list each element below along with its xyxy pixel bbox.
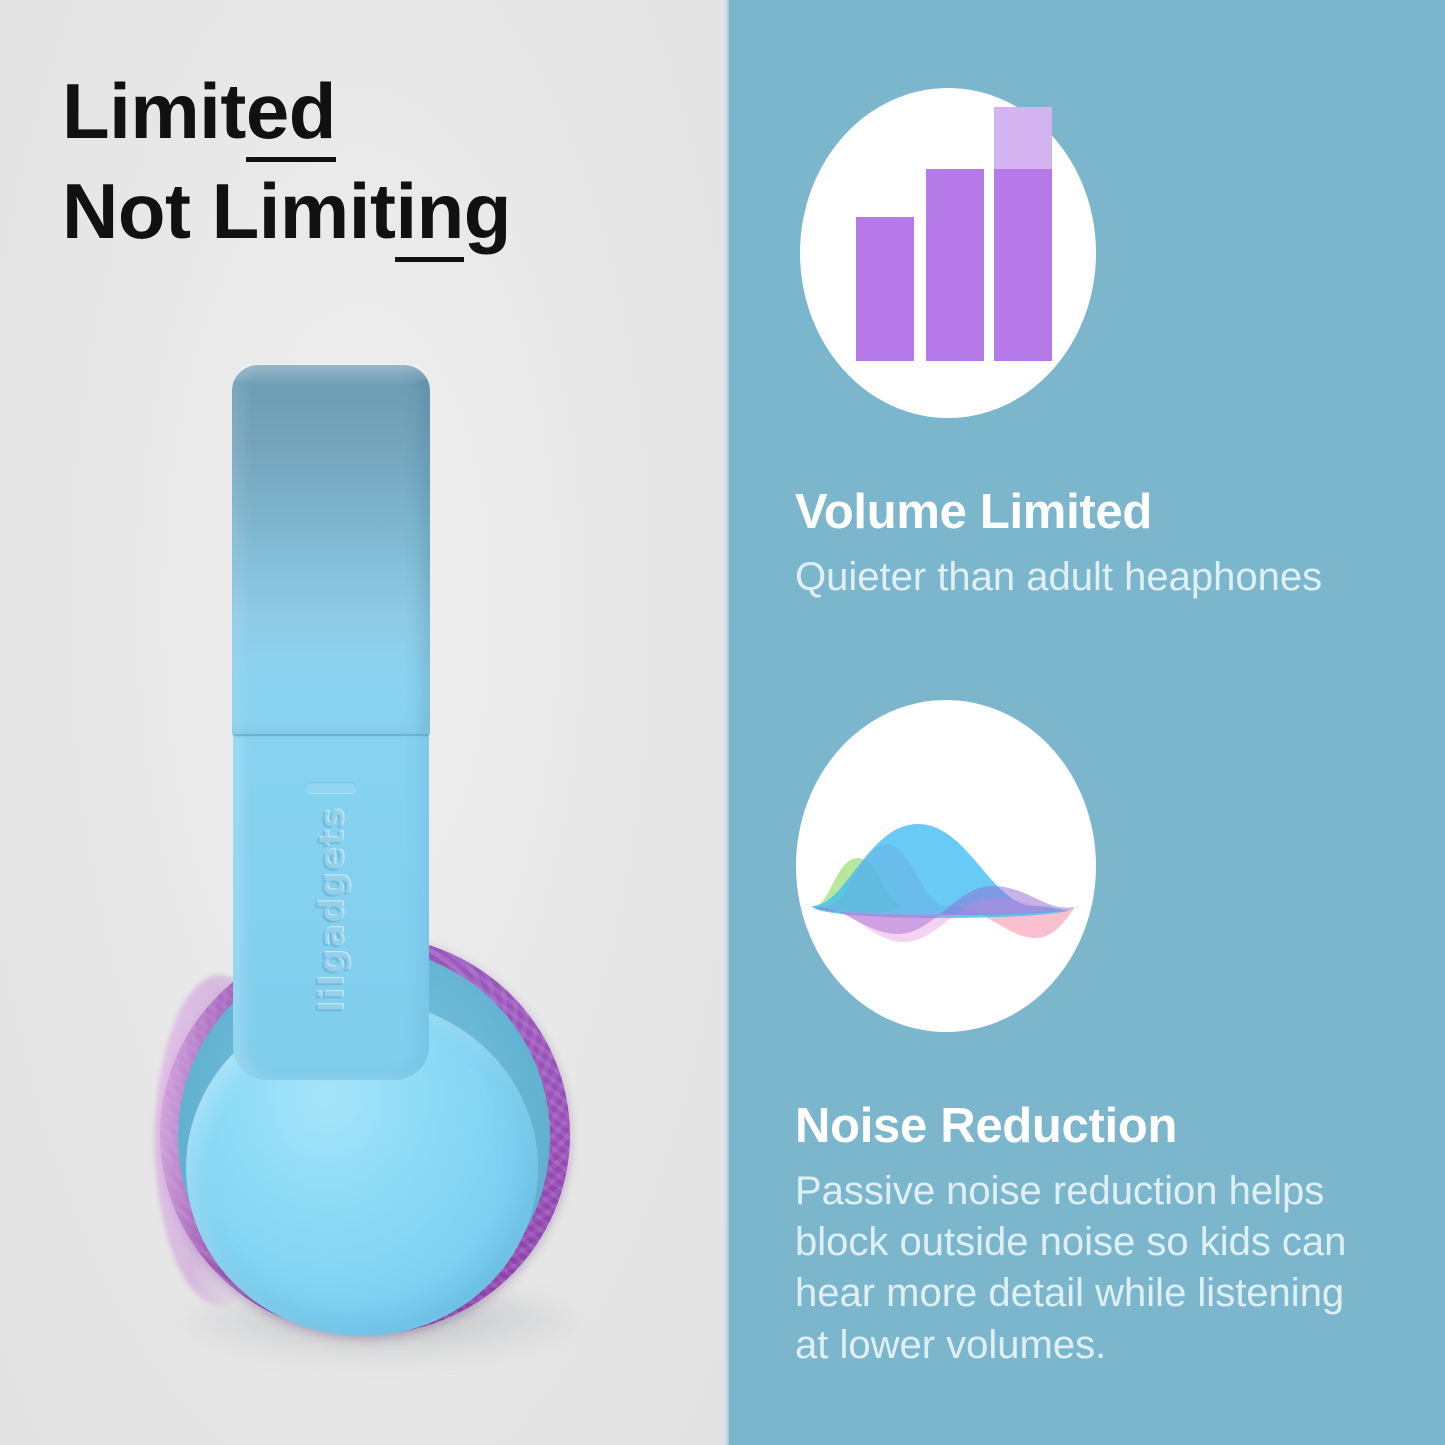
panel-divider	[722, 0, 729, 1445]
ear-pad-texture	[160, 935, 570, 1335]
sound-wave-icon	[806, 766, 1086, 966]
sound-wave-icon-circle	[796, 700, 1096, 1032]
brand-logo-text: lilgadgets	[312, 807, 352, 1013]
bar-chart-icon-circle	[800, 88, 1096, 418]
feature-desc-volume-limited: Quieter than adult heaphones	[795, 552, 1395, 603]
left-panel: Limited Not Limiting lilgadgets	[0, 0, 722, 1445]
headline-line1-prefix: Limit	[62, 67, 246, 155]
bar-2	[926, 169, 984, 361]
headband-arm	[233, 600, 429, 1080]
product-drop-shadow	[182, 1288, 582, 1362]
bar-3-limited-cap	[994, 107, 1052, 169]
bar-3	[994, 169, 1052, 361]
headline-line-1: Limited	[62, 62, 692, 162]
headline-block: Limited Not Limiting	[62, 62, 692, 262]
product-feature-graphic: Limited Not Limiting lilgadgets	[0, 0, 1445, 1445]
feature-desc-noise-reduction: Passive noise reduction helps block outs…	[795, 1166, 1380, 1371]
headline-line1-underlined: ed	[246, 67, 336, 162]
bar-chart-icon	[848, 146, 1048, 361]
headband-seam	[234, 734, 428, 736]
headband-top-highlight	[236, 364, 426, 386]
ear-pad-rim-highlight	[155, 975, 285, 1305]
feature-title-volume-limited: Volume Limited	[795, 484, 1152, 540]
headline-line2-underlined: in	[395, 167, 463, 262]
bar-1	[856, 217, 914, 361]
brand-logo-emboss: lilgadgets	[234, 760, 430, 1060]
ear-cup-ring	[178, 948, 550, 1326]
headline-line-2: Not Limiting	[62, 162, 692, 262]
headline-line2-suffix: g	[464, 167, 511, 255]
headband	[232, 365, 430, 737]
ear-pad-purple	[160, 935, 570, 1335]
headband-notch	[306, 782, 356, 793]
feature-title-noise-reduction: Noise Reduction	[795, 1098, 1177, 1154]
ear-cup	[186, 1000, 538, 1336]
headline-line2-prefix: Not Limit	[62, 167, 395, 255]
